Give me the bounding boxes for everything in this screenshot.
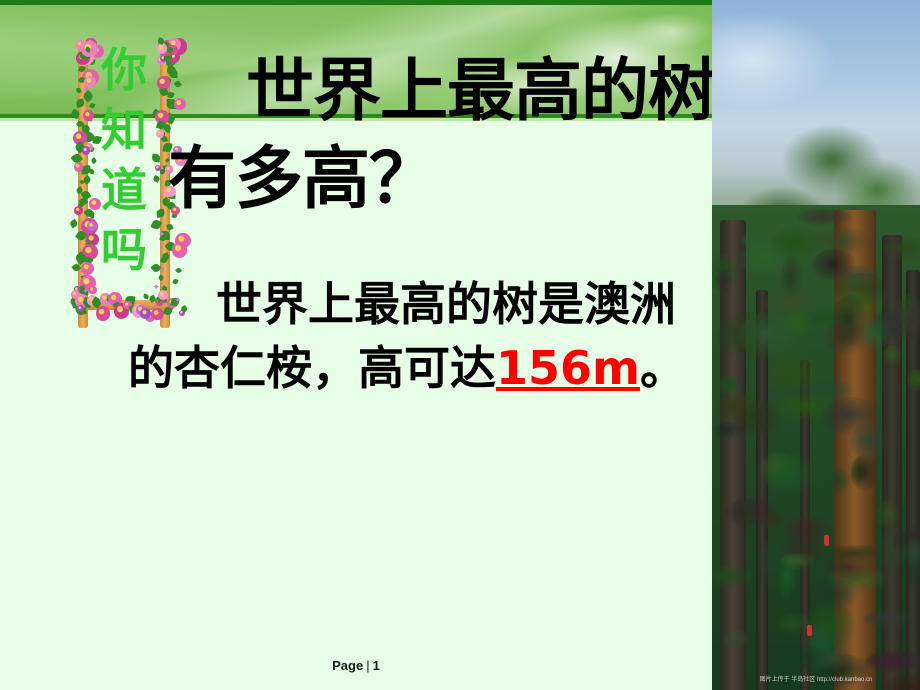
- flower-leaf: [75, 88, 81, 94]
- photo-foliage: [712, 566, 757, 588]
- content-area: ✦✦✦✦✦✦✦✦ 你 知 道 吗 世界上最高的树有多高？ 世界上最高的树是澳洲的…: [0, 0, 712, 690]
- photo-foliage: [864, 652, 920, 675]
- photo-foliage: [883, 345, 902, 366]
- flower-blossom: [96, 306, 110, 320]
- slide-title: 世界上最高的树有多高？: [168, 48, 712, 224]
- photo-foliage: [715, 268, 734, 294]
- page-separator: |: [366, 658, 369, 673]
- height-value-highlight: 156m: [496, 341, 640, 395]
- flower-sparkle: ✦: [85, 274, 93, 283]
- vertical-phrase: 你 知 道 吗: [93, 40, 155, 280]
- page-footer: Page|1: [0, 658, 712, 673]
- flower-blossom: [74, 206, 83, 215]
- flower-blossom: [172, 242, 188, 258]
- body-period: 。: [640, 341, 686, 395]
- flower-blossom: [156, 130, 164, 138]
- photo-foliage: [731, 498, 763, 527]
- vertical-phrase-char-3: 道: [93, 160, 155, 220]
- photo-foliage: [784, 645, 830, 672]
- vertical-phrase-char-4: 吗: [93, 220, 155, 280]
- slide-canvas: ✦✦✦✦✦✦✦✦ 你 知 道 吗 世界上最高的树有多高？ 世界上最高的树是澳洲的…: [0, 0, 920, 690]
- page-label: Page: [332, 658, 363, 673]
- flower-blossom: [77, 305, 84, 312]
- forest-photo: 图片上传于 半岛社区 http://club.kanbao.cn: [712, 0, 920, 690]
- vertical-phrase-char-2: 知: [93, 100, 155, 160]
- photo-foliage: [740, 233, 759, 250]
- body-paragraph: 世界上最高的树是澳洲的杏仁桉，高可达156m。: [128, 272, 698, 400]
- photo-person-for-scale: [824, 535, 829, 546]
- photo-foliage: [723, 630, 750, 649]
- photo-foliage: [860, 318, 890, 349]
- flower-sparkle: ✦: [158, 231, 166, 240]
- photo-person-for-scale: [807, 625, 812, 636]
- photo-watermark: 图片上传于 半岛社区 http://club.kanbao.cn: [712, 676, 920, 684]
- photo-foliage: [784, 310, 813, 337]
- photo-foliage: [779, 553, 816, 570]
- photo-foliage: [797, 209, 853, 225]
- flower-blossom: [82, 146, 90, 154]
- photo-foliage: [904, 537, 920, 570]
- vertical-phrase-char-1: 你: [93, 40, 155, 100]
- flower-leaf: [166, 223, 173, 230]
- photo-foliage: [764, 453, 816, 497]
- flower-blossom: [88, 286, 96, 294]
- page-number: 1: [373, 658, 380, 673]
- photo-foliage: [822, 397, 881, 436]
- flower-sparkle: ✦: [82, 87, 90, 96]
- photo-foliage: [713, 422, 744, 440]
- photo-foliage: [823, 468, 854, 495]
- photo-foliage: [877, 500, 901, 530]
- photo-forest: [712, 205, 920, 690]
- photo-foliage: [851, 455, 879, 492]
